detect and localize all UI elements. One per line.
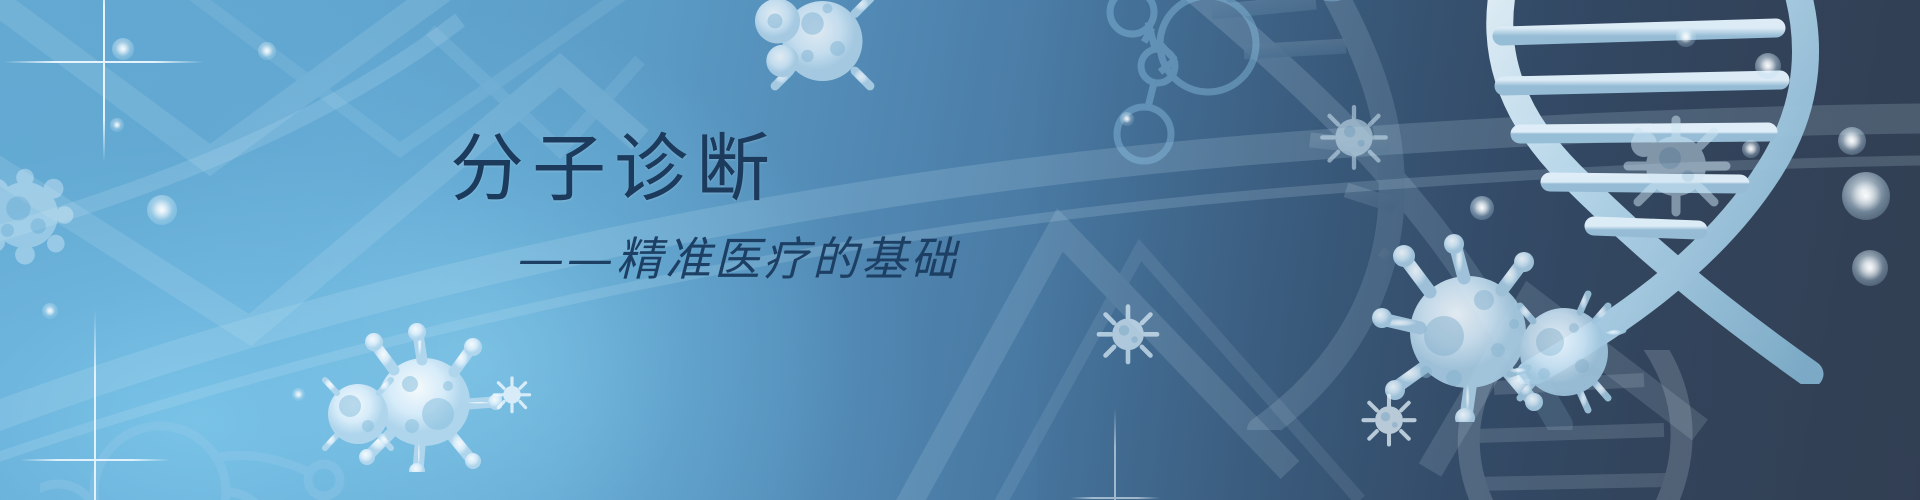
cell-bubble <box>1838 127 1866 155</box>
cell-bubble <box>42 303 58 319</box>
molecular-diagnostics-banner: 分子诊断 ——精准医疗的基础 <box>0 0 1920 500</box>
virus-small-icon <box>1318 100 1390 172</box>
cell-bubble <box>1120 112 1134 126</box>
virus-top-icon <box>745 0 895 116</box>
sparkle-star-topleft-icon <box>4 0 204 162</box>
virus-upper-right-icon <box>1618 108 1738 218</box>
cell-bubble <box>147 195 177 225</box>
virus-left-icon <box>0 160 80 270</box>
cell-bubble <box>112 38 134 60</box>
cell-bubble <box>1755 53 1781 79</box>
cell-bubble <box>1470 196 1494 220</box>
virus-micro-icon <box>492 374 532 414</box>
cell-bubble <box>1842 172 1890 220</box>
cell-bubble <box>258 42 276 60</box>
cell-bubble <box>110 118 124 132</box>
cell-bubble <box>1742 140 1760 158</box>
sparkle-star-bottomleft-icon <box>20 310 170 500</box>
cell-bubble <box>1676 27 1696 47</box>
virus-center-icon <box>1095 300 1161 366</box>
cell-bubble <box>1852 250 1888 286</box>
virus-cluster-bottom-icon <box>302 322 502 472</box>
sparkle-star-bottomcenter-icon <box>1070 408 1160 500</box>
virus-tiny-icon <box>1360 390 1418 448</box>
